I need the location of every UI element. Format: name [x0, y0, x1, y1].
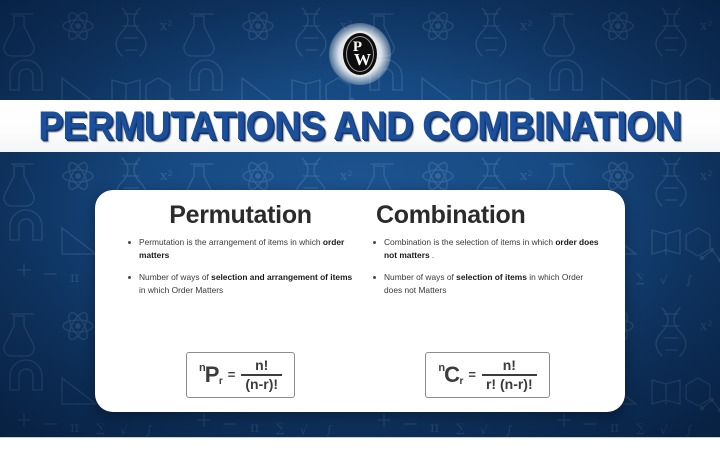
formula-letter-p: P [205, 362, 219, 388]
bullet-text: Number of ways of [384, 272, 456, 282]
formula-denominator: r! (n-r)! [482, 376, 537, 392]
combination-bullet-list: Combination is the selection of items in… [372, 236, 603, 306]
formula-numerator: n! [497, 358, 522, 374]
bullet-text: Permutation is the arrangement of items … [139, 237, 323, 247]
bullet-emphasis: selection and arrangement of items [211, 272, 352, 282]
bullet-item: Permutation is the arrangement of items … [127, 236, 354, 262]
bullet-item: Number of ways of selection of items in … [372, 271, 603, 297]
logo-letters: P W [349, 40, 371, 68]
combination-column: Combination Combination is the selection… [360, 200, 611, 400]
bottom-strip [0, 437, 720, 450]
formula-equals-sign: = [468, 367, 476, 382]
formula-fraction: n! (n-r)! [241, 358, 282, 392]
bullet-item: Combination is the selection of items in… [372, 236, 603, 262]
pw-logo: P W [329, 23, 391, 85]
combination-formula-box: nCr = n! r! (n-r)! [425, 352, 549, 398]
formula-equals-sign: = [228, 367, 236, 382]
permutation-heading: Permutation [127, 202, 354, 228]
formula-superscript-n: n [199, 362, 206, 374]
formula-numerator: n! [249, 358, 274, 374]
formula-denominator: (n-r)! [241, 376, 282, 392]
formula-fraction: n! r! (n-r)! [482, 358, 537, 392]
bullet-text: Combination is the selection of items in… [384, 237, 555, 247]
bullet-text: . [430, 250, 435, 260]
permutation-column: Permutation Permutation is the arrangeme… [109, 200, 360, 400]
slide-screenshot: x² [0, 0, 720, 450]
logo-badge: P W [341, 31, 379, 77]
formula-letter-c: C [444, 362, 459, 388]
formula-subscript-r: r [459, 376, 463, 387]
formula-subscript-r: r [219, 376, 223, 387]
bullet-text: in which Order Matters [139, 285, 223, 295]
bullet-emphasis: selection of items [456, 272, 527, 282]
bullet-text: Number of ways of [139, 272, 211, 282]
permutation-formula: nPr = n! (n-r)! [199, 358, 282, 392]
bullet-item: Number of ways of selection and arrangem… [127, 271, 354, 297]
formula-superscript-n: n [438, 362, 445, 374]
combination-formula: nCr = n! r! (n-r)! [438, 358, 536, 392]
logo-letter-w: W [354, 51, 371, 68]
permutation-bullet-list: Permutation is the arrangement of items … [127, 236, 354, 306]
title-band: PERMUTATIONS AND COMBINATION [0, 100, 720, 152]
page-title: PERMUTATIONS AND COMBINATION [39, 104, 682, 149]
combination-heading: Combination [372, 202, 603, 228]
content-card: Permutation Permutation is the arrangeme… [95, 190, 625, 412]
permutation-formula-box: nPr = n! (n-r)! [186, 352, 295, 398]
